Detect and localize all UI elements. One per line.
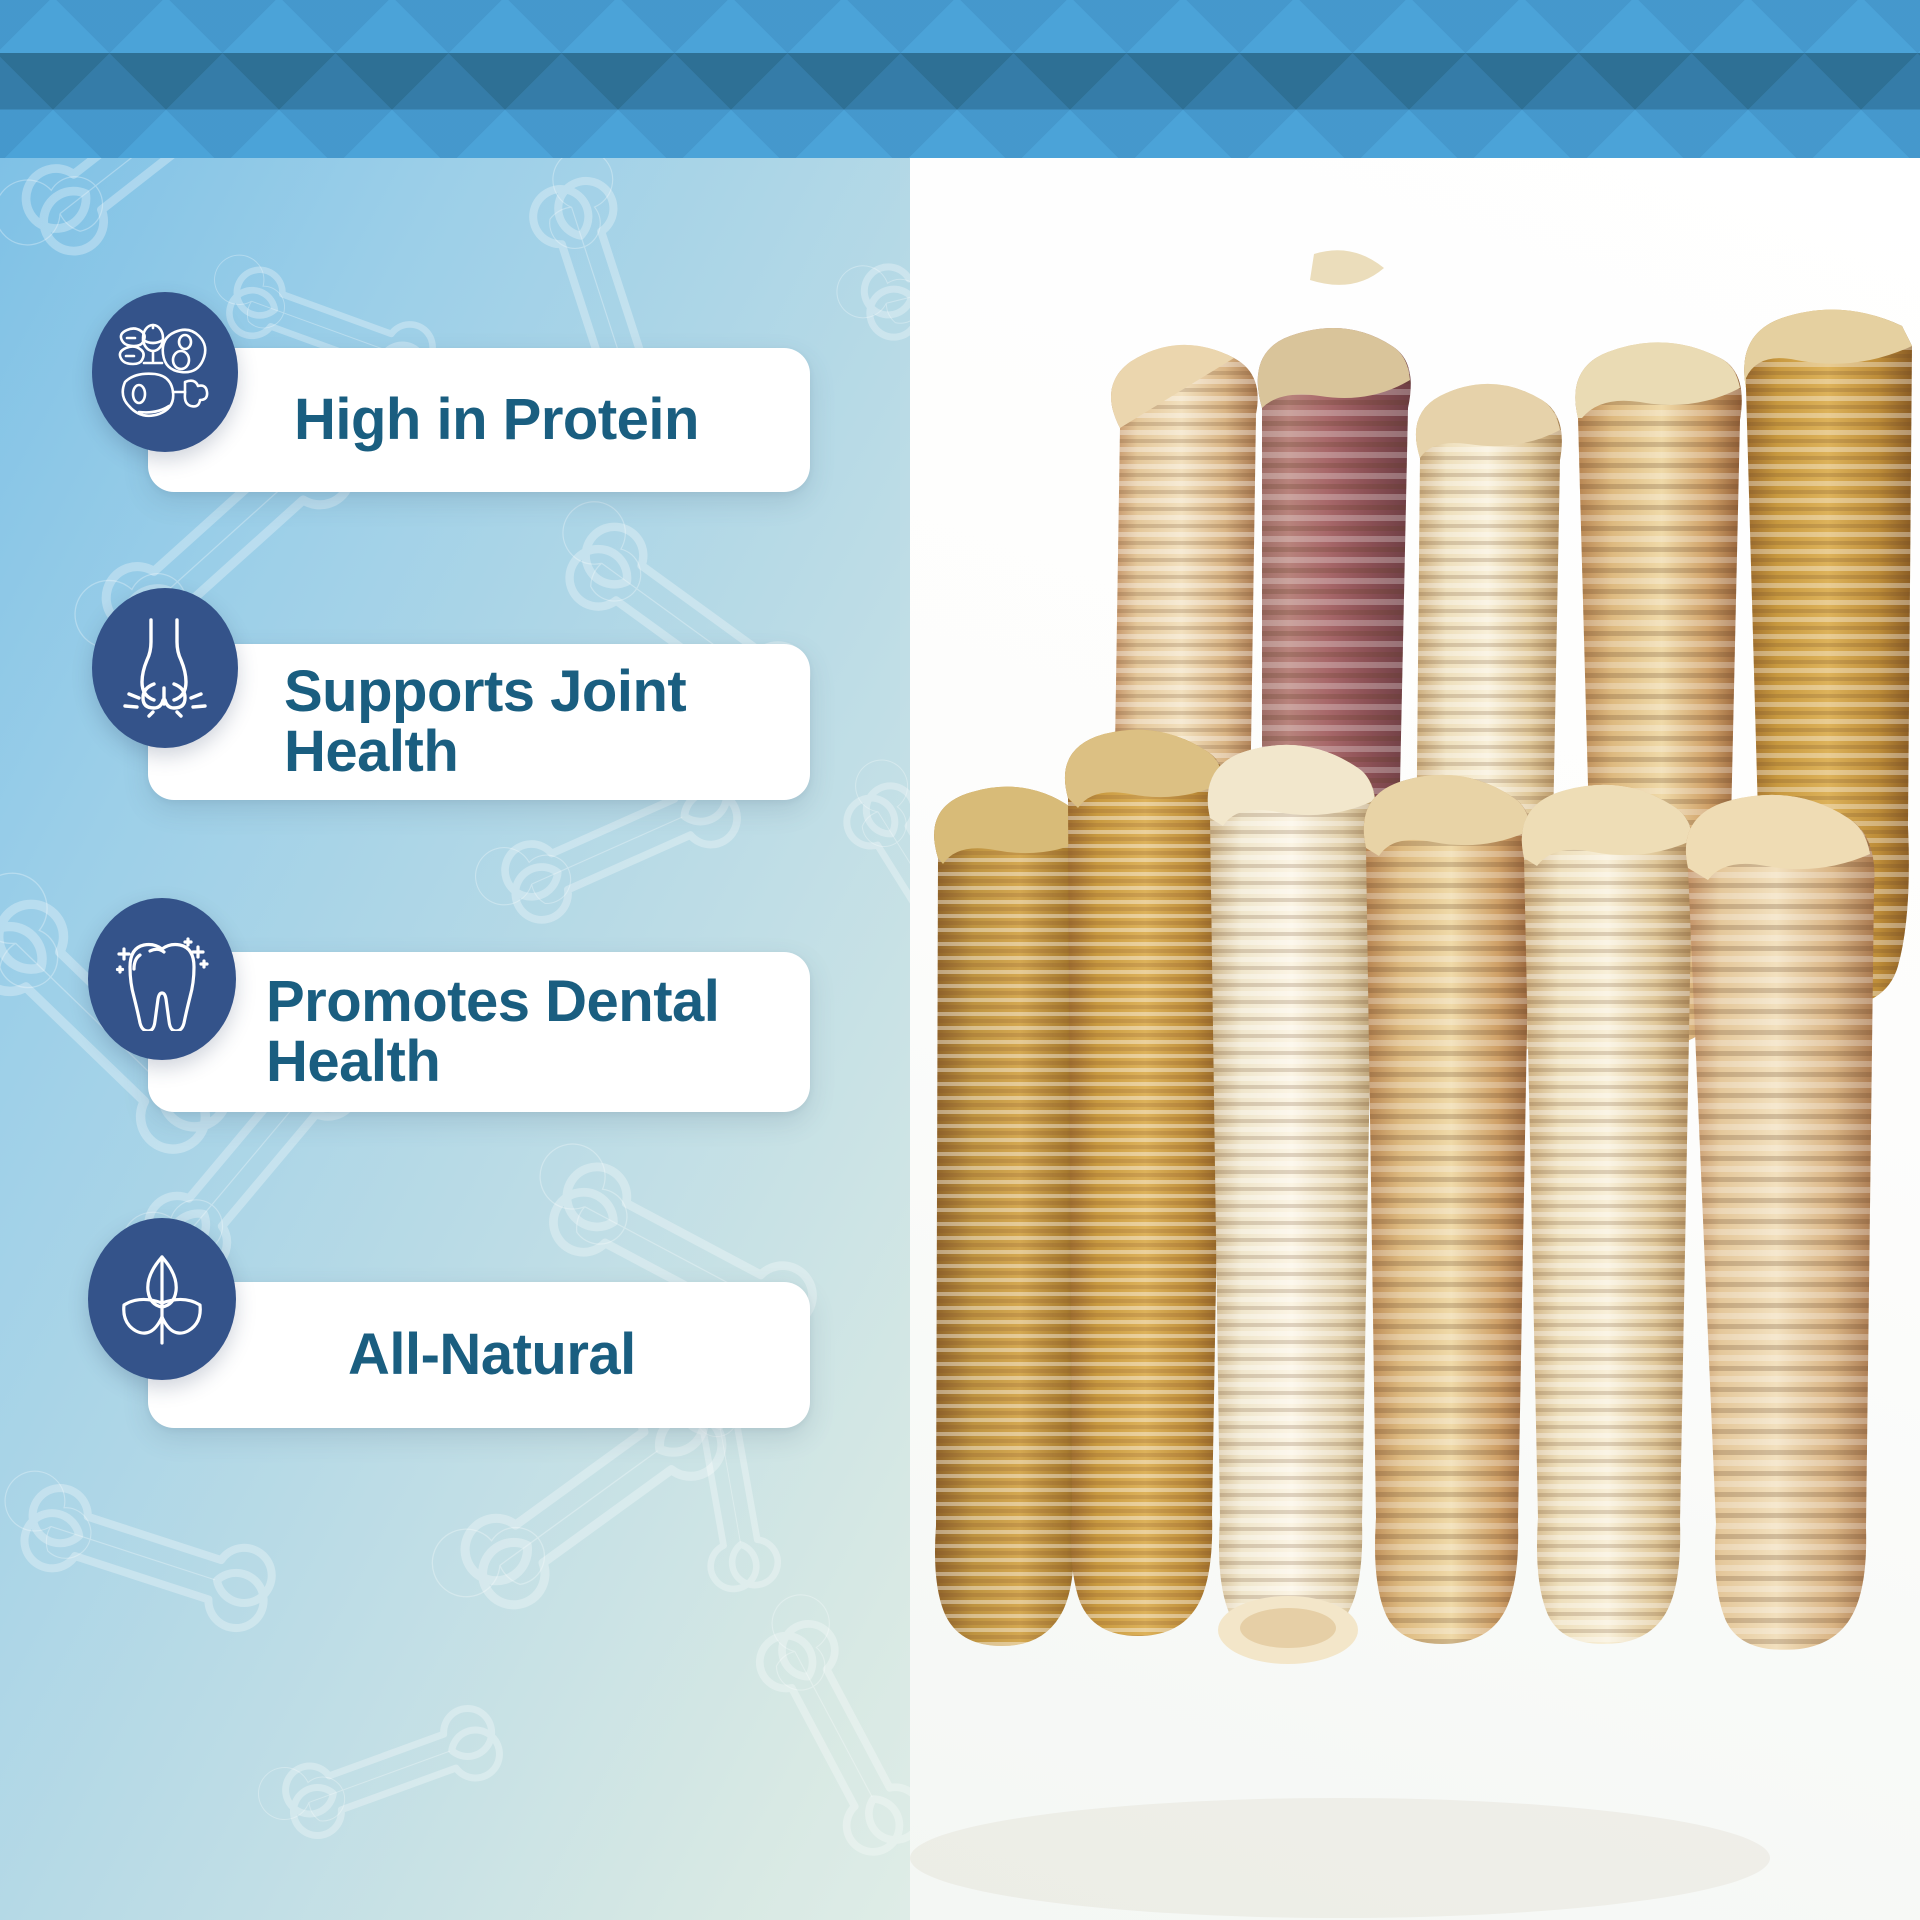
chew-tube-6 [934,787,1090,1646]
joint-bone-icon [92,588,238,748]
tooth-sparkle-icon [88,898,236,1060]
chew-tube-10 [1522,785,1694,1644]
leaf-sprout-icon [88,1218,236,1380]
feature-label-protein: High in Protein [294,390,699,450]
feature-pill-joint[interactable]: Supports Joint Health [148,644,810,800]
chew-tube-8 [1208,745,1376,1664]
protein-meat-icon [92,292,238,452]
infographic-canvas: High in Protein [0,0,1920,1920]
chew-tube-7 [1065,730,1226,1636]
argyle-pattern-layer-2 [0,0,1920,158]
feature-label-joint: Supports Joint Health [284,662,686,781]
feature-label-natural: All-Natural [348,1325,636,1385]
product-photo [910,158,1920,1920]
chew-tube-9 [1364,775,1532,1644]
header-argyle-band [0,0,1920,158]
product-photo-illustration [910,158,1920,1920]
feature-pill-protein[interactable]: High in Protein [148,348,810,492]
chew-tube-11 [1686,795,1875,1650]
feature-pill-dental[interactable]: Promotes Dental Health [148,952,810,1112]
feature-pill-natural[interactable]: All-Natural [148,1282,810,1428]
feature-label-dental: Promotes Dental Health [266,972,719,1091]
